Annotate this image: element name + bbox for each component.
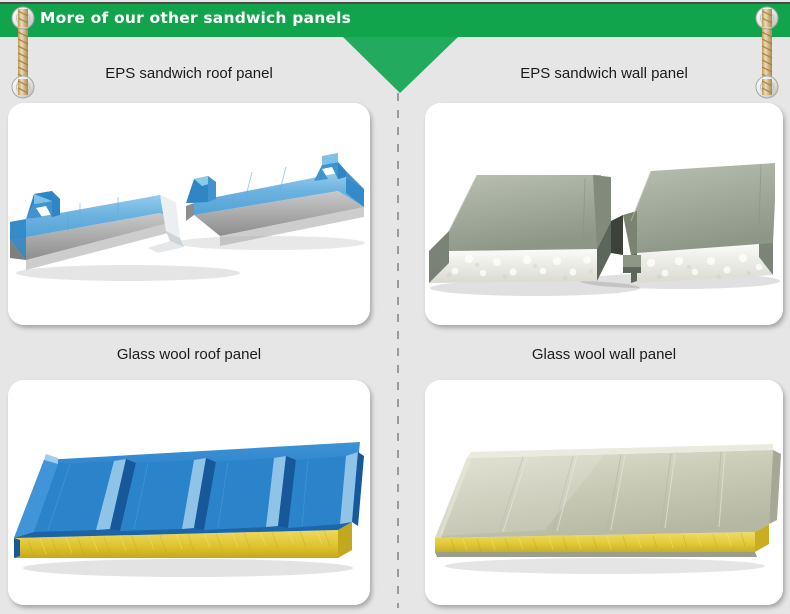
glass-wool-roof-panel-image — [8, 380, 370, 605]
product-image-card[interactable] — [425, 103, 783, 325]
banner-top-border — [0, 2, 790, 4]
product-image-card[interactable] — [8, 380, 370, 605]
eps-sandwich-wall-panel-image — [425, 103, 783, 325]
product-image-card[interactable] — [425, 380, 783, 605]
eps-sandwich-roof-panel-image — [8, 103, 370, 325]
product-label: EPS sandwich wall panel — [425, 65, 783, 82]
rope-cord-right-icon — [750, 4, 784, 100]
product-label: Glass wool roof panel — [8, 346, 370, 363]
product-label: Glass wool wall panel — [425, 346, 783, 363]
glass-wool-wall-panel-image — [425, 380, 783, 605]
page-title: More of our other sandwich panels — [40, 9, 351, 27]
rope-cord-left-icon — [6, 4, 40, 100]
vertical-dashed-divider — [397, 93, 399, 608]
product-image-card[interactable] — [8, 103, 370, 325]
product-showcase-page: More of our other sandwich panels — [0, 0, 790, 614]
header-banner: More of our other sandwich panels — [0, 2, 790, 37]
product-label: EPS sandwich roof panel — [8, 65, 370, 82]
